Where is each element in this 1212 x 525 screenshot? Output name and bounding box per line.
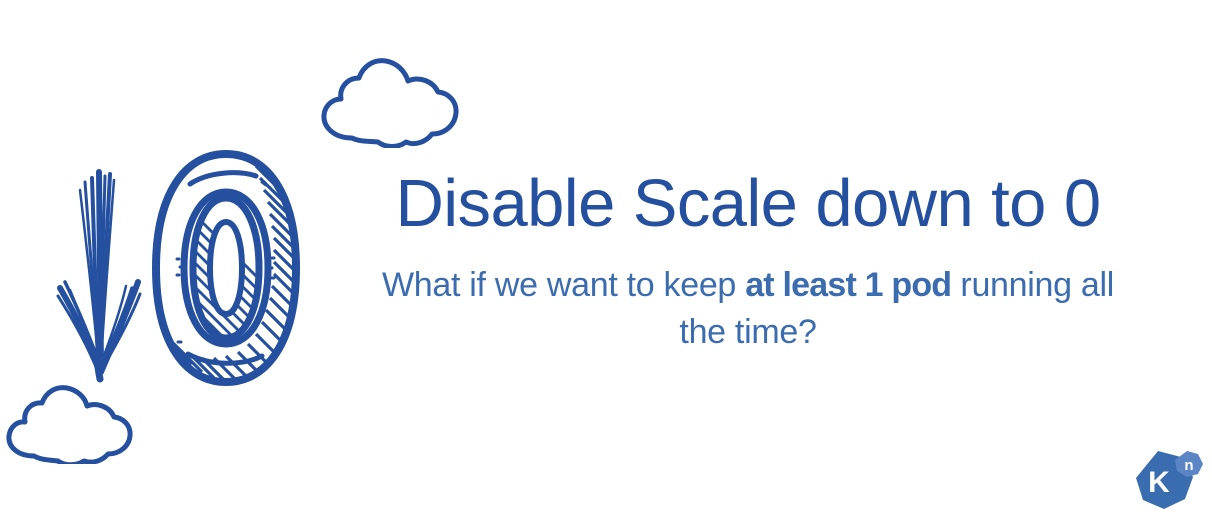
- subtitle-emphasis: at least 1 pod: [745, 266, 951, 304]
- slide-canvas: Disable Scale down to 0 What if we want …: [0, 0, 1212, 525]
- slide-text-block: Disable Scale down to 0 What if we want …: [372, 170, 1124, 356]
- subtitle-lead: What if we want to keep: [382, 266, 745, 304]
- down-arrow-icon: [52, 160, 152, 385]
- cloud-top-icon: [312, 52, 464, 148]
- cloud-bottom-icon: [0, 378, 146, 464]
- page-title: Disable Scale down to 0: [372, 170, 1124, 238]
- slide-subtitle: What if we want to keep at least 1 pod r…: [372, 262, 1124, 356]
- logo-badge-letter: n: [1184, 457, 1193, 474]
- handdrawn-zero-icon: [138, 146, 313, 391]
- brand-logo: K n: [1128, 443, 1208, 521]
- logo-primary-letter: K: [1148, 466, 1170, 499]
